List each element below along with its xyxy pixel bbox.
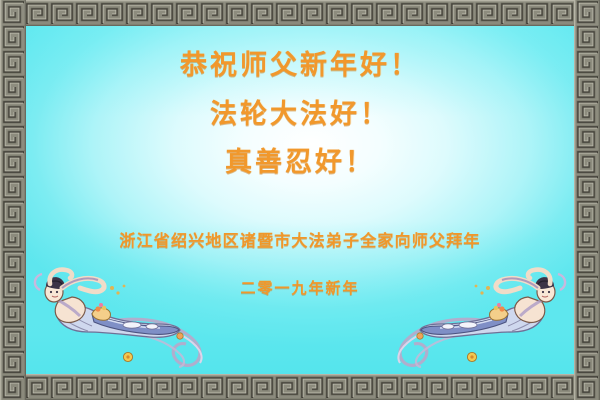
meander-pattern-icon-top [0,0,600,26]
greeting-line-3: 真善忍好！ [26,149,574,176]
meander-pattern-icon-left [0,0,26,400]
meander-pattern-icon-right [574,0,600,400]
card-background: 恭祝师父新年好！ 法轮大法好！ 真善忍好！ 浙江省绍兴地区诸暨市大法弟子全家向师… [26,26,574,374]
card-border-bottom [0,374,600,400]
card-border-left [0,0,26,400]
new-year-greeting-card: 恭祝师父新年好！ 法轮大法好！ 真善忍好！ 浙江省绍兴地区诸暨市大法弟子全家向师… [0,0,600,400]
meander-pattern-icon-bottom [0,374,600,400]
card-border-top [0,0,600,26]
flying-apsara-icon-left [28,262,224,372]
greeting-line-1: 恭祝师父新年好！ [26,52,574,79]
year-line: 二零一九年新年 [26,281,574,296]
card-border-right [574,0,600,400]
greeting-line-2: 法轮大法好！ [26,101,574,128]
flying-apsara-icon-right [376,262,572,372]
signature-line: 浙江省绍兴地区诸暨市大法弟子全家向师父拜年 [26,233,574,249]
